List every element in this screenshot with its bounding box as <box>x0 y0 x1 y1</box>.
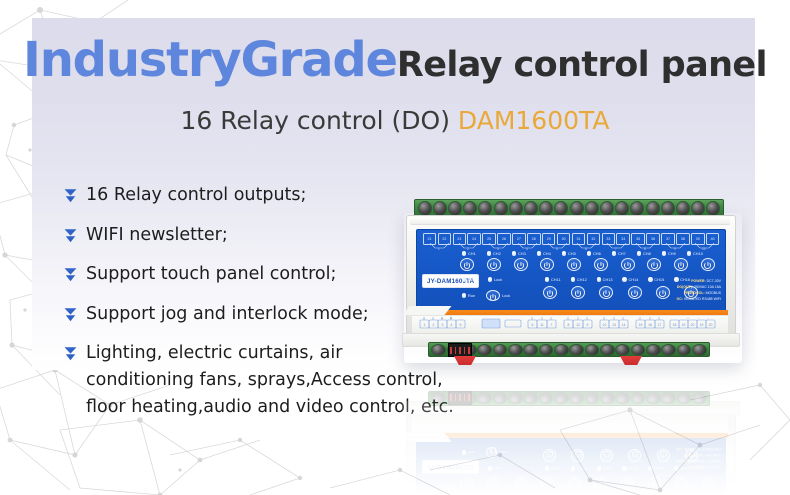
svg-text:6: 6 <box>585 247 587 250</box>
svg-text:7: 7 <box>615 247 617 250</box>
svg-text:18: 18 <box>673 323 677 327</box>
led-icon <box>537 251 541 255</box>
svg-text:~: ~ <box>707 316 709 320</box>
status-indicator-row-1: Pow Lock <box>462 277 514 282</box>
terminal-wiring-diagram: 123 456 789 10 <box>422 243 720 250</box>
led-icon <box>571 277 575 281</box>
svg-text:15: 15 <box>639 323 643 327</box>
channel-indicator: CH8 <box>637 251 662 256</box>
title-primary: IndustryGrade <box>23 32 397 88</box>
svg-text:2: 2 <box>467 247 469 250</box>
svg-text:10: 10 <box>603 323 607 327</box>
device-front-panel: 21 22 23 24 25 26 27 28 29 30 31 32 33 3… <box>416 229 726 315</box>
channel-indicator: CH11 <box>545 277 571 282</box>
double-chevron-down-icon <box>64 307 86 322</box>
svg-text:8: 8 <box>644 247 646 250</box>
svg-text:11: 11 <box>540 323 544 327</box>
svg-text:-: - <box>433 316 434 320</box>
svg-text:10: 10 <box>702 247 706 250</box>
svg-text:A: A <box>441 316 443 320</box>
channel-indicator: CH12 <box>571 277 597 282</box>
svg-text:9: 9 <box>674 247 676 250</box>
svg-text:17: 17 <box>658 323 662 327</box>
svg-text:13: 13 <box>612 323 616 327</box>
relay-button-ch12[interactable] <box>571 286 585 299</box>
svg-text:5: 5 <box>556 247 558 250</box>
svg-text:5: 5 <box>460 323 462 327</box>
svg-text:8: 8 <box>568 323 570 327</box>
svg-text:12: 12 <box>576 323 580 327</box>
relay-button-ch11[interactable] <box>543 286 557 299</box>
led-icon <box>622 277 626 281</box>
svg-text:19: 19 <box>682 323 686 327</box>
led-icon <box>487 251 491 255</box>
svg-text:B: B <box>450 316 452 320</box>
dip-switch-block[interactable] <box>448 343 472 357</box>
lock-button-label: Lock <box>502 293 510 298</box>
channel-indicator: CH4 <box>537 251 562 256</box>
relay-button-ch3[interactable] <box>514 258 528 271</box>
channel-indicator: CH7 <box>612 251 637 256</box>
relay-button-ch6[interactable] <box>594 258 608 271</box>
list-item-label: Support jog and interlock mode; <box>86 301 369 328</box>
led-icon <box>587 251 591 255</box>
din-rail-clip-left <box>454 356 476 365</box>
product-banner: IndustryGradeRelay control panel 16 Rela… <box>0 0 790 495</box>
product-image-relay-module: 21 22 23 24 25 26 27 28 29 30 31 32 33 3… <box>398 193 748 373</box>
list-item-label: Support touch panel control; <box>86 261 336 288</box>
channel-indicator: CH5 <box>562 251 587 256</box>
relay-button-ch10[interactable] <box>701 258 715 271</box>
spec-row-comm: GC: ISOLATED RS485 WIFI <box>647 296 721 302</box>
led-icon <box>462 251 466 255</box>
led-icon <box>512 251 516 255</box>
run-indicator: Run <box>462 293 486 298</box>
led-icon <box>687 251 691 255</box>
relay-button-ch4[interactable] <box>540 258 554 271</box>
svg-text:2: 2 <box>433 323 435 327</box>
led-icon <box>662 251 666 255</box>
channel-indicator: CH1 <box>462 251 487 256</box>
svg-text:9: 9 <box>587 323 589 327</box>
relay-button-ch7[interactable] <box>621 258 635 271</box>
led-icon <box>597 277 601 281</box>
list-item-label: 16 Relay control outputs; <box>86 182 306 209</box>
svg-text:+: + <box>423 316 425 320</box>
svg-text:4: 4 <box>526 247 528 250</box>
double-chevron-down-icon <box>64 188 86 203</box>
subtitle-model-number: DAM1600TA <box>458 106 610 135</box>
led-icon <box>462 277 466 281</box>
led-icon <box>637 251 641 255</box>
bottom-terminal-number-strip: 123 45 6117 8129 101314 151617 181920 19… <box>412 316 728 333</box>
lock-indicator: Lock <box>488 277 514 282</box>
relay-button-ch8[interactable] <box>647 258 661 271</box>
title-secondary: Relay control panel <box>397 45 767 85</box>
channel-indicator: CH14 <box>622 277 648 282</box>
svg-text:-: - <box>698 316 699 320</box>
din-rail-clip-right <box>620 356 642 365</box>
channel-indicator: CH13 <box>597 277 623 282</box>
svg-text:1: 1 <box>438 247 440 250</box>
svg-text:+: + <box>687 316 689 320</box>
double-chevron-down-icon <box>64 228 86 243</box>
channel-led-row-1: CH1 CH2 CH3 CH4 CH5 CH6 CH7 CH8 CH9 CH10 <box>462 251 712 256</box>
relay-button-ch5[interactable] <box>567 258 581 271</box>
led-icon <box>488 277 492 281</box>
svg-text:14: 14 <box>622 323 626 327</box>
svg-text:20: 20 <box>709 323 713 327</box>
led-icon <box>462 293 466 297</box>
svg-text:4: 4 <box>451 323 453 327</box>
svg-text:19: 19 <box>700 323 704 327</box>
relay-button-ch1[interactable] <box>460 258 474 271</box>
relay-button-ch13[interactable] <box>599 286 613 299</box>
orange-accent-stripe <box>412 310 728 315</box>
led-icon <box>562 251 566 255</box>
power-indicator: Pow <box>462 277 488 282</box>
relay-button-row-1 <box>460 258 715 271</box>
lock-button[interactable] <box>486 290 500 301</box>
channel-indicator: CH10 <box>687 251 712 256</box>
svg-text:20: 20 <box>691 323 695 327</box>
status-indicator-row-2: Run Lock <box>462 290 510 301</box>
list-item-label: WIFI newsletter; <box>86 222 228 249</box>
svg-text:3: 3 <box>497 247 499 250</box>
svg-text:1: 1 <box>424 323 426 327</box>
led-icon <box>545 277 549 281</box>
channel-indicator: CH6 <box>587 251 612 256</box>
svg-text:3: 3 <box>442 323 444 327</box>
channel-indicator: CH9 <box>662 251 687 256</box>
channel-indicator: CH3 <box>512 251 537 256</box>
svg-text:16: 16 <box>648 323 652 327</box>
svg-text:7: 7 <box>551 323 553 327</box>
led-icon <box>612 251 616 255</box>
page-subtitle: 16 Relay control (DO) DAM1600TA <box>0 108 790 133</box>
channel-indicator: CH2 <box>487 251 512 256</box>
double-chevron-down-icon <box>64 267 86 282</box>
relay-button-ch2[interactable] <box>487 258 501 271</box>
subtitle-text: 16 Relay control (DO) <box>181 106 458 135</box>
specification-text-block: POWER: DC7-30V DO(OUT): 250VAC 10A 16A P… <box>647 278 721 303</box>
page-title: IndustryGradeRelay control panel <box>0 36 790 84</box>
relay-button-ch14[interactable] <box>628 286 642 299</box>
double-chevron-down-icon <box>64 346 86 361</box>
relay-button-ch9[interactable] <box>674 258 688 271</box>
enclosure-top-lip <box>410 217 730 225</box>
svg-text:6: 6 <box>532 323 534 327</box>
